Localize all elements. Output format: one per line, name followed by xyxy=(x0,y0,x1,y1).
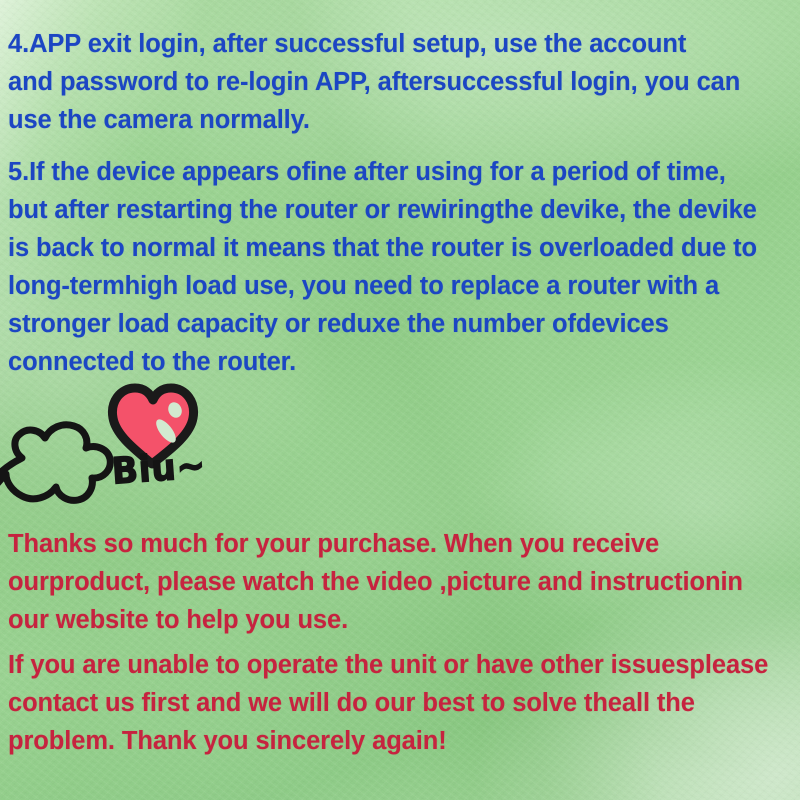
cloud-doodle-icon xyxy=(0,425,110,501)
instruction-card: 4.APP exit login, after successful setup… xyxy=(0,0,800,800)
instruction-item-4: 4.APP exit login, after successful setup… xyxy=(8,25,794,139)
card-content: 4.APP exit login, after successful setup… xyxy=(0,0,800,800)
biu-handwriting-label: Biu~ xyxy=(111,444,208,493)
instruction-item-5: 5.If the device appears ofine after usin… xyxy=(8,153,794,381)
closing-thanks-message: Thanks so much for your purchase. When y… xyxy=(8,525,794,639)
closing-contact-message: If you are unable to operate the unit or… xyxy=(8,646,794,760)
